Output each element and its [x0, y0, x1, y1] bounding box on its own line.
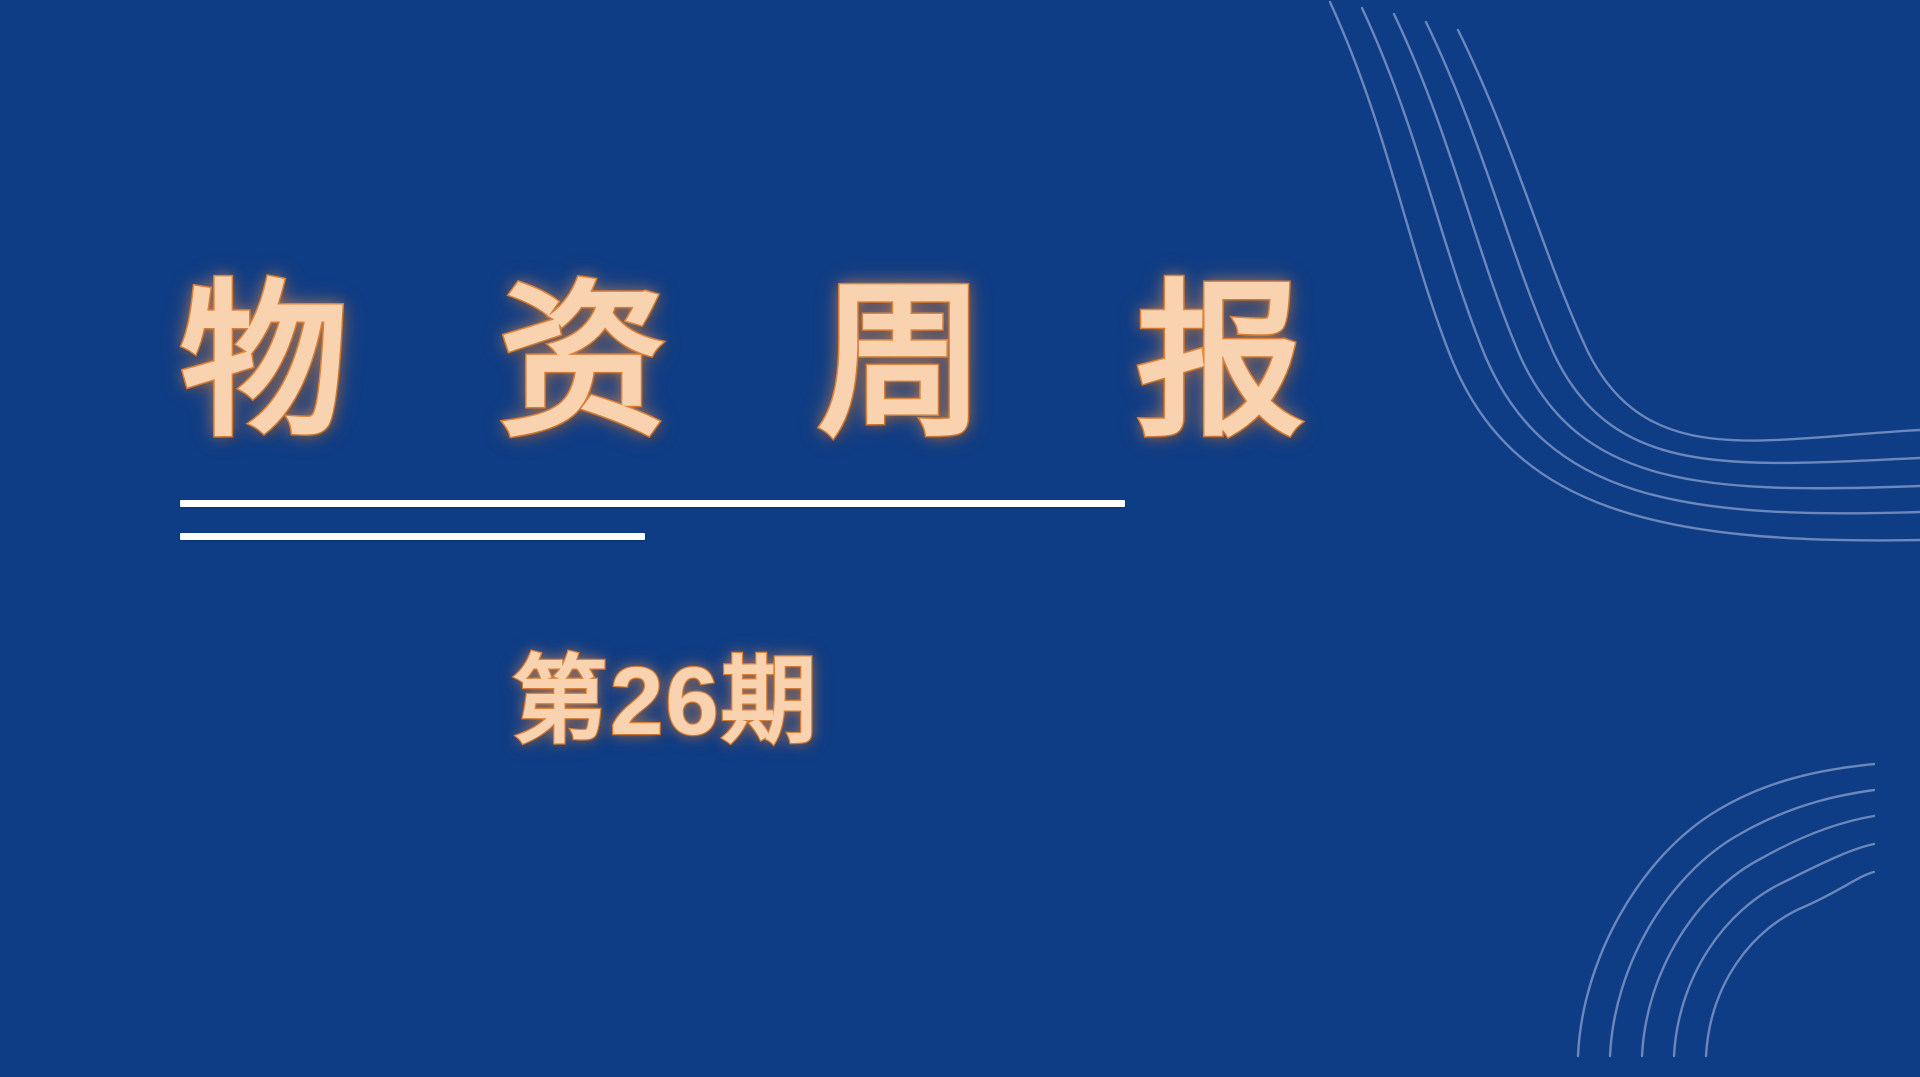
arc-curve-1 — [1578, 764, 1874, 1056]
divider-rule-short — [180, 533, 645, 540]
wave-curve-3 — [1394, 14, 1920, 488]
title-block: 物 资 周 报 — [180, 278, 1180, 446]
wave-curve-4 — [1426, 22, 1920, 463]
divider-rule-long — [180, 500, 1125, 507]
arc-curve-5 — [1706, 872, 1874, 1056]
curve-group-top-right — [1330, 2, 1920, 540]
page-title: 物 资 周 报 — [180, 278, 1180, 446]
issue-subtitle: 第26期 — [512, 648, 819, 756]
wave-curve-2 — [1362, 8, 1920, 513]
title-slide: 物 资 周 报 第26期 — [0, 0, 1920, 1077]
arc-curve-4 — [1674, 844, 1874, 1056]
curve-group-bottom-right — [1578, 764, 1874, 1056]
arc-curve-2 — [1610, 790, 1874, 1056]
wave-curve-5 — [1458, 30, 1920, 441]
arc-curve-3 — [1642, 816, 1874, 1056]
wave-curve-1 — [1330, 2, 1920, 540]
